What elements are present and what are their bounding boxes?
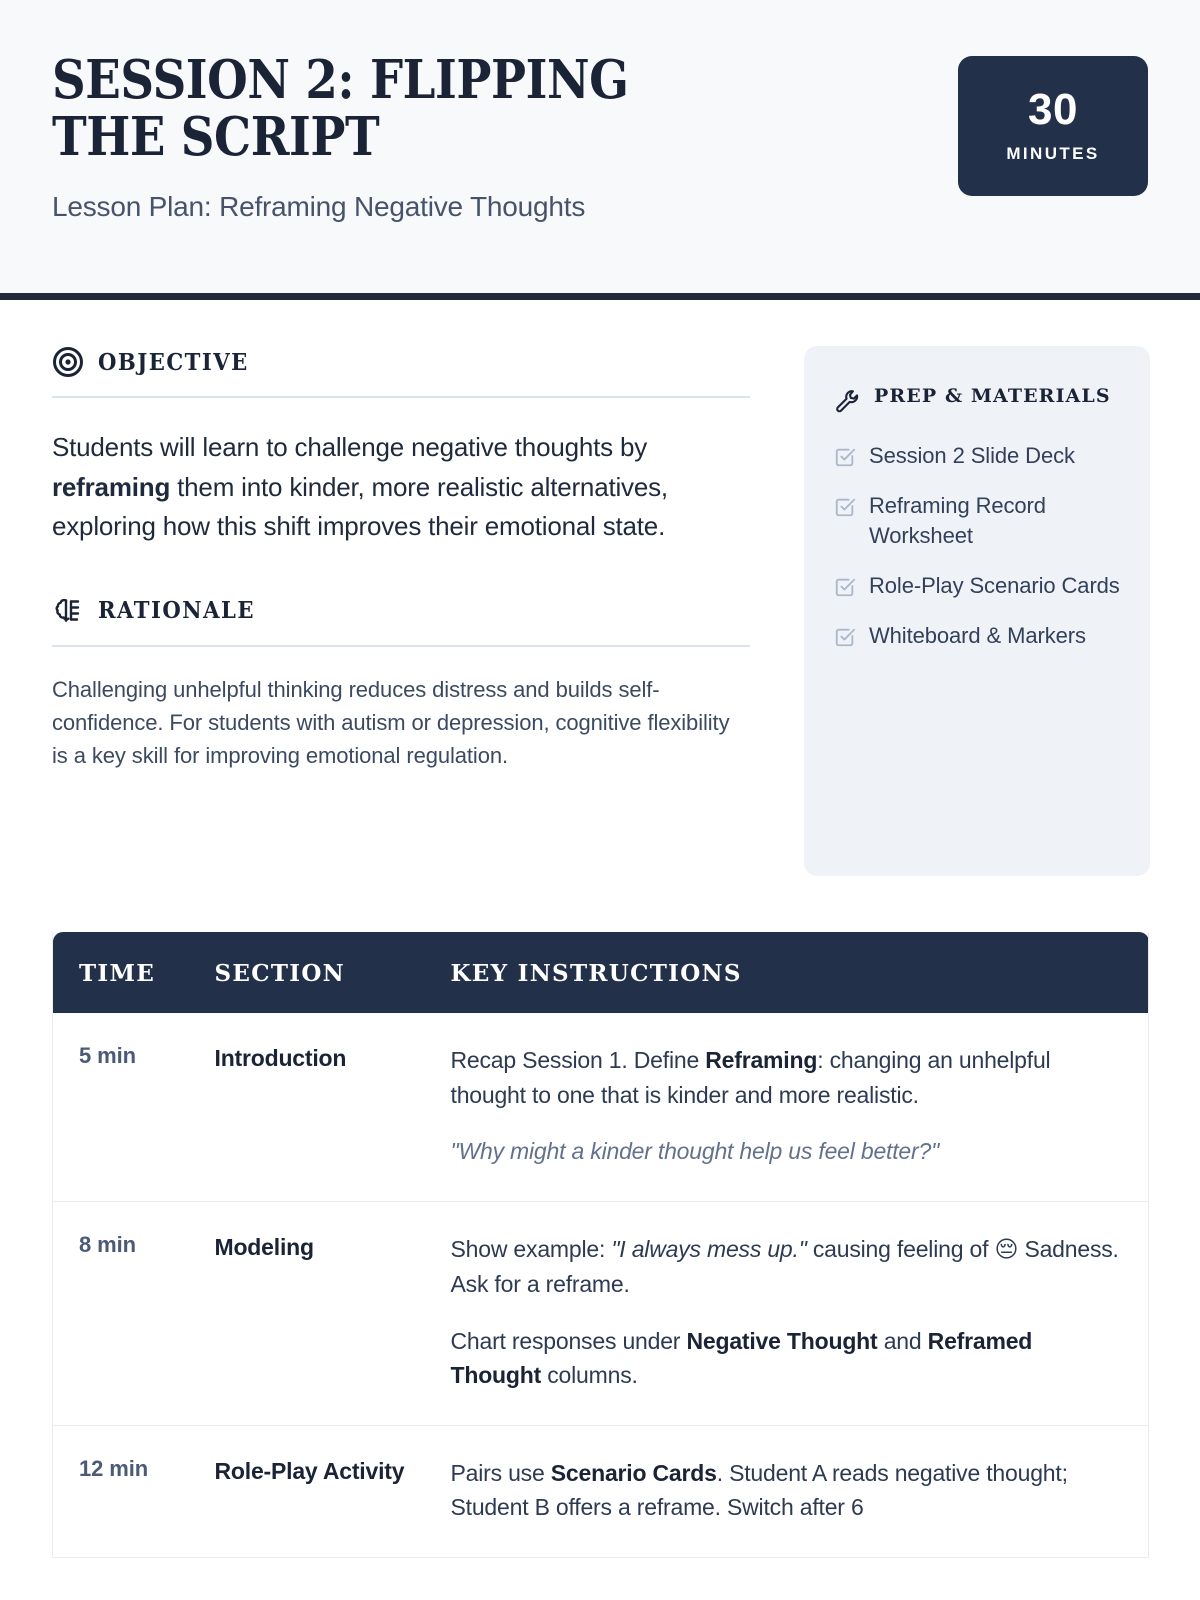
objective-heading: OBJECTIVE xyxy=(52,346,750,378)
check-square-icon xyxy=(834,576,856,598)
page-title: SESSION 2: FLIPPING THE SCRIPT xyxy=(52,52,747,165)
instruction-text: and xyxy=(878,1328,928,1354)
row-section: Introduction xyxy=(215,1013,451,1201)
prep-item-label: Session 2 Slide Deck xyxy=(869,441,1075,471)
objective-emphasis: reframing xyxy=(52,472,170,502)
main-column: OBJECTIVE Students will learn to challen… xyxy=(52,346,750,773)
row-time: 8 min xyxy=(53,1201,215,1425)
instruction-text: Show example: xyxy=(451,1236,612,1262)
prep-item-label: Role-Play Scenario Cards xyxy=(869,571,1120,601)
rationale-heading-label: RATIONALE xyxy=(98,597,255,624)
table-header-row: TIME SECTION KEY INSTRUCTIONS xyxy=(53,932,1149,1013)
row-instructions: Recap Session 1. Define Reframing: chang… xyxy=(451,1013,1149,1201)
prep-materials-card: PREP & MATERIALS Session 2 Slide Deck Re… xyxy=(804,346,1150,876)
objective-text: Students will learn to challenge negativ… xyxy=(52,428,750,547)
rationale-heading: RATIONALE xyxy=(52,595,750,627)
header-text-block: SESSION 2: FLIPPING THE SCRIPT Lesson Pl… xyxy=(52,52,842,223)
page-subtitle: Lesson Plan: Reframing Negative Thoughts xyxy=(52,191,842,223)
instruction-bold-term: Negative Thought xyxy=(686,1328,877,1354)
check-square-icon xyxy=(834,626,856,648)
duration-badge: 30 MINUTES xyxy=(958,56,1148,196)
column-header-section: SECTION xyxy=(215,932,451,1013)
document-body: OBJECTIVE Students will learn to challen… xyxy=(0,300,1200,876)
instruction-text: causing feeling of xyxy=(807,1236,995,1262)
target-icon xyxy=(52,346,84,378)
prep-list: Session 2 Slide Deck Reframing Record Wo… xyxy=(834,441,1122,651)
prep-heading: PREP & MATERIALS xyxy=(834,384,1122,415)
duration-unit: MINUTES xyxy=(1006,144,1099,164)
column-header-key-instructions: KEY INSTRUCTIONS xyxy=(451,932,1149,1013)
row-section: Modeling xyxy=(215,1201,451,1425)
instruction-line: Chart responses under Negative Thought a… xyxy=(451,1324,1127,1393)
instruction-text: Pairs use xyxy=(451,1460,551,1486)
list-item: Session 2 Slide Deck xyxy=(834,441,1122,471)
wrench-icon xyxy=(834,388,861,415)
rationale-divider xyxy=(52,645,750,647)
document-header: SESSION 2: FLIPPING THE SCRIPT Lesson Pl… xyxy=(0,0,1200,300)
schedule-table: TIME SECTION KEY INSTRUCTIONS 5 min Intr… xyxy=(52,932,1149,1558)
instruction-bold-term: Reframing xyxy=(705,1047,817,1073)
prep-heading-label: PREP & MATERIALS xyxy=(874,384,1111,409)
brain-icon xyxy=(52,595,84,627)
table-row: 5 min Introduction Recap Session 1. Defi… xyxy=(53,1013,1149,1201)
prep-item-label: Whiteboard & Markers xyxy=(869,621,1086,651)
objective-text-part1: Students will learn to challenge negativ… xyxy=(52,432,647,462)
list-item: Reframing Record Worksheet xyxy=(834,491,1122,551)
instruction-line: Show example: "I always mess up." causin… xyxy=(451,1232,1127,1302)
schedule-table-body: 5 min Introduction Recap Session 1. Defi… xyxy=(53,1013,1149,1557)
instruction-text: Recap Session 1. Define xyxy=(451,1047,706,1073)
objective-divider xyxy=(52,396,750,398)
list-item: Whiteboard & Markers xyxy=(834,621,1122,651)
schedule-table-head: TIME SECTION KEY INSTRUCTIONS xyxy=(53,932,1149,1013)
instruction-text: columns. xyxy=(541,1362,638,1388)
list-item: Role-Play Scenario Cards xyxy=(834,571,1122,601)
instruction-line: Recap Session 1. Define Reframing: chang… xyxy=(451,1043,1127,1112)
row-instructions: Pairs use Scenario Cards. Student A read… xyxy=(451,1425,1149,1557)
instruction-quote: "I always mess up." xyxy=(611,1236,806,1262)
check-square-icon xyxy=(834,496,856,518)
row-instructions: Show example: "I always mess up." causin… xyxy=(451,1201,1149,1425)
table-row: 12 min Role-Play Activity Pairs use Scen… xyxy=(53,1425,1149,1557)
row-section: Role-Play Activity xyxy=(215,1425,451,1557)
schedule-section: TIME SECTION KEY INSTRUCTIONS 5 min Intr… xyxy=(0,932,1200,1558)
table-row: 8 min Modeling Show example: "I always m… xyxy=(53,1201,1149,1425)
check-square-icon xyxy=(834,446,856,468)
side-column: PREP & MATERIALS Session 2 Slide Deck Re… xyxy=(804,346,1150,876)
prep-item-label: Reframing Record Worksheet xyxy=(869,491,1122,551)
row-time: 12 min xyxy=(53,1425,215,1557)
column-header-time: TIME xyxy=(53,932,215,1013)
objective-heading-label: OBJECTIVE xyxy=(98,349,249,376)
instruction-text: Chart responses under xyxy=(451,1328,687,1354)
instruction-line: Pairs use Scenario Cards. Student A read… xyxy=(451,1456,1127,1525)
pensive-face-emoji: 😔 xyxy=(994,1237,1018,1263)
script-prompt: "Why might a kinder thought help us feel… xyxy=(451,1134,1127,1169)
rationale-text: Challenging unhelpful thinking reduces d… xyxy=(52,673,750,773)
row-time: 5 min xyxy=(53,1013,215,1201)
instruction-bold-term: Scenario Cards xyxy=(551,1460,717,1486)
duration-value: 30 xyxy=(1028,88,1078,132)
